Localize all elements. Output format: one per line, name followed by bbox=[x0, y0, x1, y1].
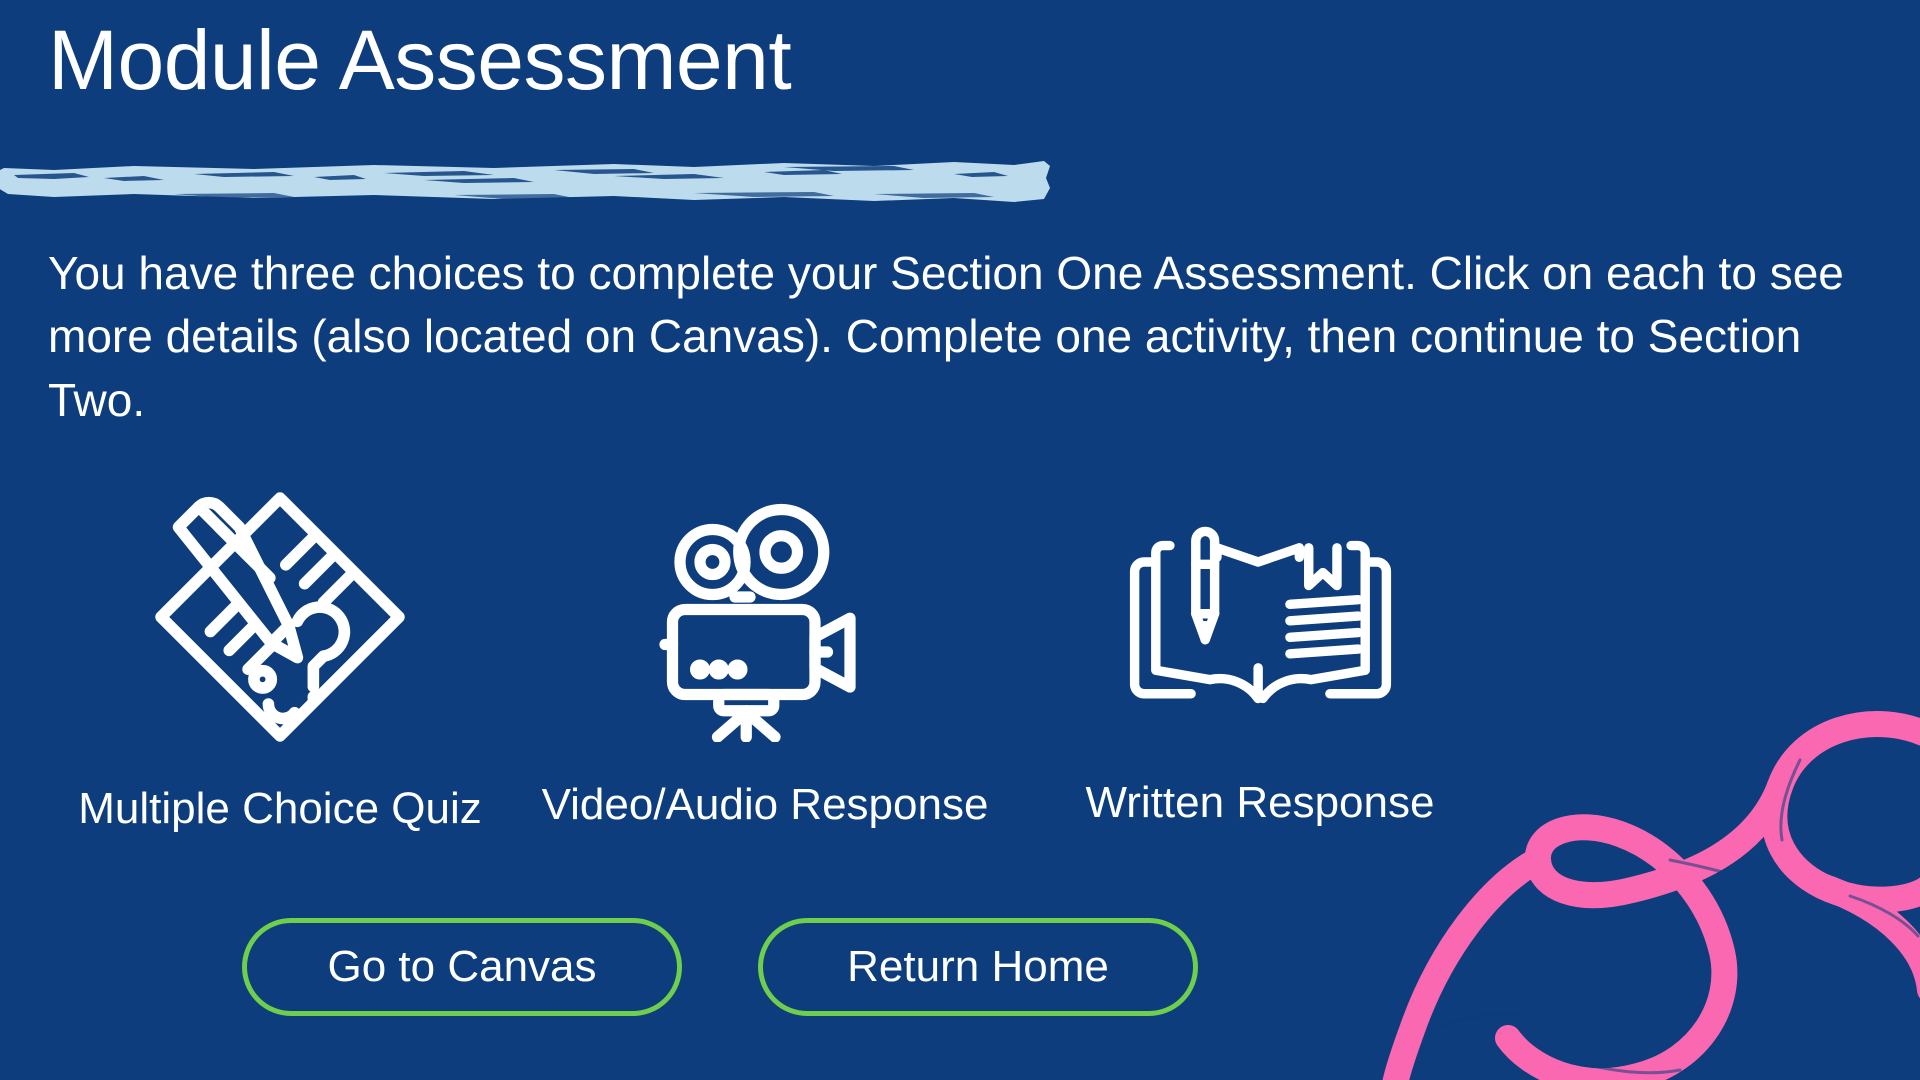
brush-stroke-underline-icon bbox=[0, 158, 1054, 204]
option-label: Written Response bbox=[1086, 778, 1435, 828]
movie-camera-icon bbox=[640, 492, 890, 742]
option-label: Video/Audio Response bbox=[542, 780, 989, 830]
open-book-pen-icon bbox=[1118, 522, 1403, 722]
option-video-audio-response[interactable]: Video/Audio Response bbox=[550, 470, 980, 830]
option-multiple-choice-quiz[interactable]: Multiple Choice Quiz bbox=[80, 470, 480, 834]
assessment-options: Multiple Choice Quiz bbox=[60, 470, 1760, 834]
slide-root: Module Assessment You have three choices… bbox=[0, 0, 1920, 1080]
go-to-canvas-button[interactable]: Go to Canvas bbox=[242, 918, 682, 1016]
option-written-response[interactable]: Written Response bbox=[1040, 470, 1480, 828]
return-home-button[interactable]: Return Home bbox=[758, 918, 1198, 1016]
option-label: Multiple Choice Quiz bbox=[78, 784, 482, 834]
quiz-diamond-pencil-question-icon bbox=[135, 472, 425, 762]
page-title: Module Assessment bbox=[48, 16, 791, 104]
intro-paragraph: You have three choices to complete your … bbox=[48, 242, 1858, 432]
action-buttons: Go to Canvas Return Home bbox=[0, 918, 1920, 1016]
